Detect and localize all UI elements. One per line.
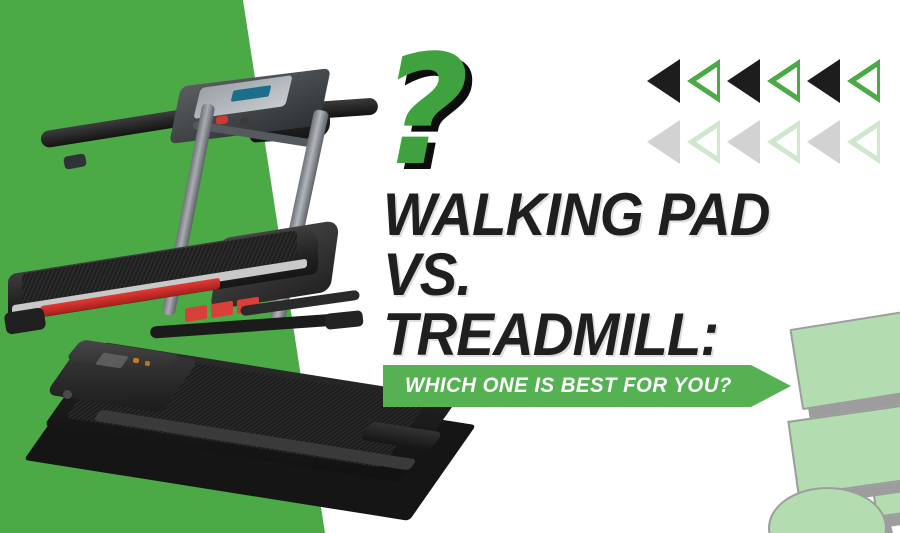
left-arrow-icon [727, 119, 762, 164]
arrow-shape [727, 120, 760, 164]
left-arrow-icon [727, 59, 762, 104]
arrow-shape [847, 120, 880, 164]
treadmill-folding-knob [63, 153, 87, 170]
banner-canvas: ? ? WALKING PAD VS. TREADMILL: WHICH ONE… [0, 0, 900, 533]
arrow-shape [767, 120, 800, 164]
arrow-triangle-row-reflection [647, 119, 887, 164]
headline-line-2: VS. [383, 245, 825, 305]
arrow-shape [807, 59, 840, 103]
left-arrow-outline-icon [767, 119, 802, 164]
arrow-shape [647, 120, 680, 164]
decor-face [768, 487, 887, 533]
question-mark-graphic: ? ? [381, 38, 531, 183]
arrow-shape [647, 59, 680, 103]
left-arrow-icon [807, 119, 842, 164]
subtitle-text: WHICH ONE IS BEST FOR YOU? [405, 374, 732, 398]
arrow-shape [727, 59, 760, 103]
subtitle-arrow-banner: WHICH ONE IS BEST FOR YOU? [383, 365, 791, 407]
decor-ellipse [768, 487, 898, 533]
walking-pad-side-knob [63, 390, 72, 399]
arrow-shape [687, 59, 720, 103]
arrow-shape [767, 59, 800, 103]
arrow-shape [687, 120, 720, 164]
decor-face [789, 308, 900, 410]
treadmill-right-foot [324, 310, 363, 330]
treadmill-product-image [0, 30, 400, 350]
left-arrow-outline-icon [767, 59, 802, 104]
page-title: WALKING PAD VS. TREADMILL: [383, 185, 825, 365]
question-mark-icon: ? [381, 38, 467, 183]
walking-pad-indicator-led [133, 358, 140, 364]
left-arrow-outline-icon [687, 59, 722, 104]
left-arrow-icon [647, 119, 682, 164]
left-arrow-icon [647, 59, 682, 104]
headline-line-3: TREADMILL: [383, 305, 825, 365]
arrow-triangle-row-top [647, 59, 887, 104]
left-arrow-outline-icon [847, 119, 882, 164]
left-arrow-icon [807, 59, 842, 104]
arrow-shape [807, 120, 840, 164]
left-arrow-outline-icon [847, 59, 882, 104]
arrow-shape [847, 59, 880, 103]
left-arrow-outline-icon [687, 119, 722, 164]
decor-face [787, 404, 900, 497]
headline-line-1: WALKING PAD [383, 185, 825, 245]
